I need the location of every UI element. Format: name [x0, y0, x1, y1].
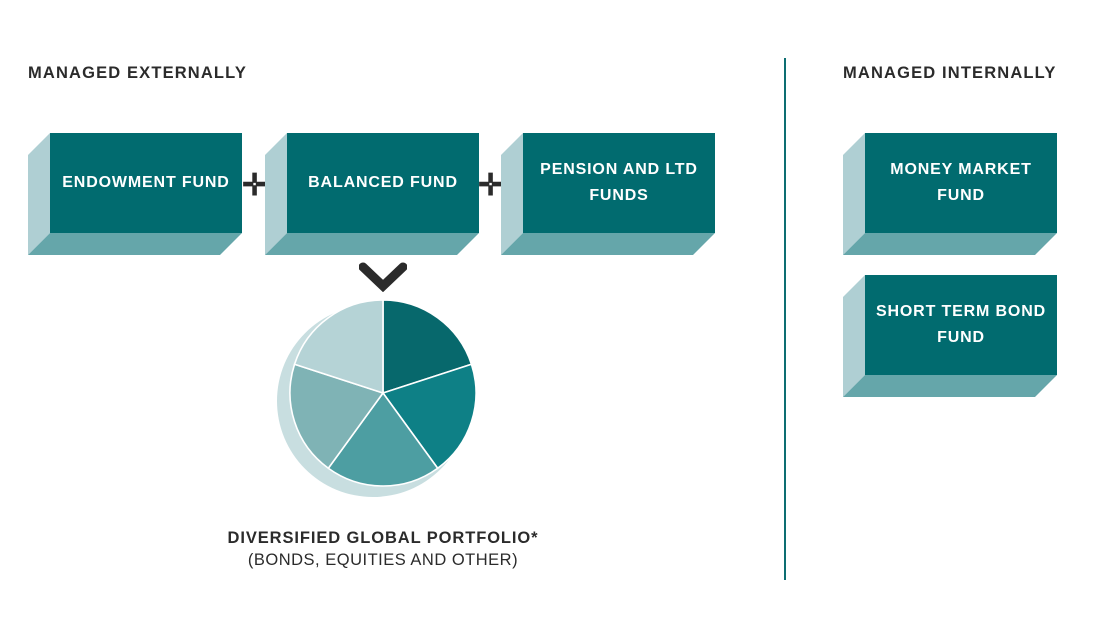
vertical-divider [784, 58, 786, 580]
fund-box-label: SHORT TERM BOND FUND [865, 299, 1057, 351]
fund-box-short-term-bond-fund[interactable]: SHORT TERM BOND FUND [843, 275, 1057, 397]
plus-operator-2: ✛ [478, 171, 502, 201]
caption-line-primary: DIVERSIFIED GLOBAL PORTFOLIO* [133, 527, 633, 549]
fund-box-pension-and-ltd-funds[interactable]: PENSION AND LTD FUNDS [501, 133, 715, 255]
fund-box-label: PENSION AND LTD FUNDS [523, 157, 715, 209]
section-heading-managed-internally: MANAGED INTERNALLY [843, 65, 1057, 82]
fund-box-money-market-fund[interactable]: MONEY MARKET FUND [843, 133, 1057, 255]
fund-box-label: BALANCED FUND [300, 170, 466, 196]
fund-box-label: ENDOWMENT FUND [54, 170, 237, 196]
box-front-face: MONEY MARKET FUND [865, 133, 1057, 233]
pie-chart-caption: DIVERSIFIED GLOBAL PORTFOLIO* (BONDS, EQ… [133, 527, 633, 573]
pie-slice-group [290, 300, 476, 486]
box-front-face: PENSION AND LTD FUNDS [523, 133, 715, 233]
caption-line-secondary: (BONDS, EQUITIES AND OTHER) [133, 549, 633, 573]
plus-operator-1: ✛ [242, 171, 266, 201]
section-heading-managed-externally: MANAGED EXTERNALLY [28, 65, 247, 82]
fund-box-label: MONEY MARKET FUND [865, 157, 1057, 209]
box-front-face: ENDOWMENT FUND [50, 133, 242, 233]
box-front-face: SHORT TERM BOND FUND [865, 275, 1057, 375]
fund-box-balanced-fund[interactable]: BALANCED FUND [265, 133, 479, 255]
portfolio-pie-chart [258, 288, 508, 513]
fund-box-endowment-fund[interactable]: ENDOWMENT FUND [28, 133, 242, 255]
diagram-canvas: MANAGED EXTERNALLY MANAGED INTERNALLY EN… [0, 0, 1094, 619]
box-front-face: BALANCED FUND [287, 133, 479, 233]
